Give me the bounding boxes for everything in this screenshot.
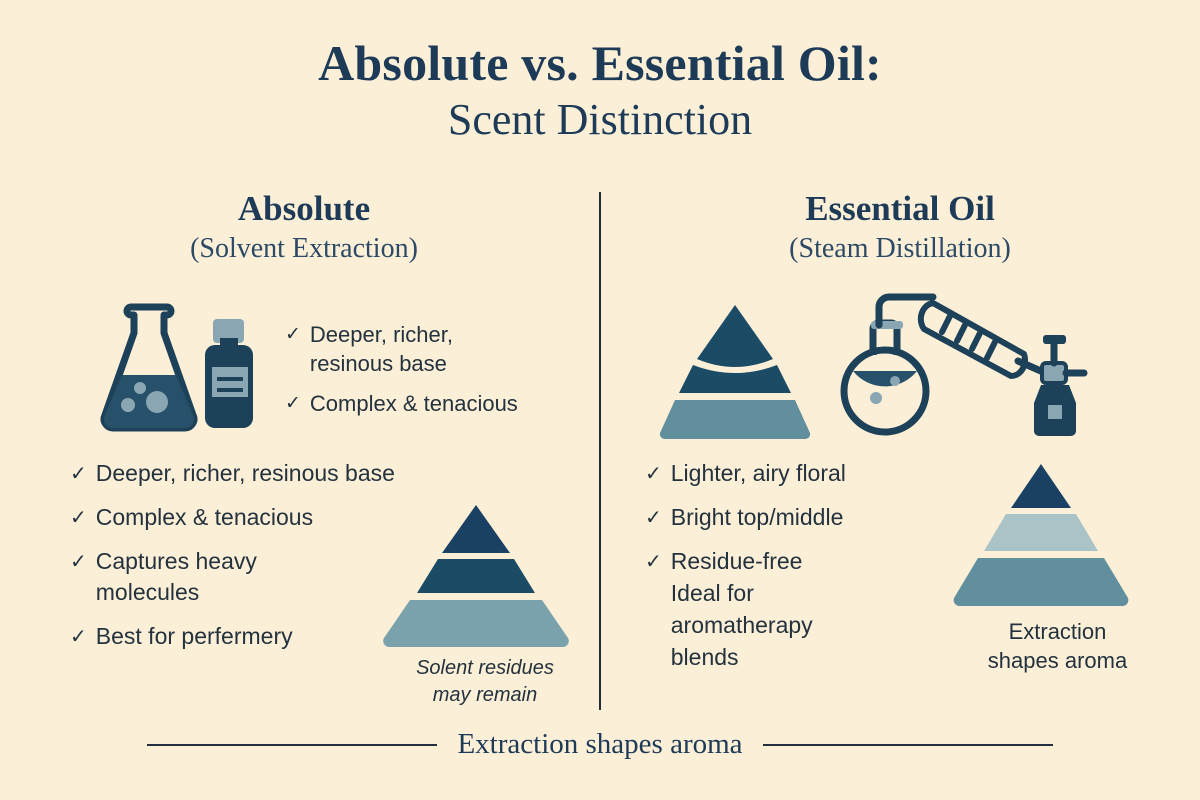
essential-main-bullet-list: ✓ Lighter, airy floral ✓ Bright top/midd…: [645, 457, 945, 685]
check-icon: ✓: [70, 546, 87, 577]
footer-rule-right: [763, 744, 1053, 746]
check-icon: ✓: [645, 501, 662, 533]
absolute-subheading: (Solvent Extraction): [44, 231, 564, 267]
list-item: ✓ Lighter, airy floral: [645, 457, 945, 489]
check-icon: ✓: [70, 502, 87, 533]
distillation-apparatus-icon: [838, 285, 1098, 450]
check-icon: ✓: [70, 621, 87, 652]
list-item: ✓ Residue-free Ideal for aromatherapy bl…: [645, 545, 945, 673]
scent-pyramid-top-icon: [640, 297, 830, 452]
bullet-text: Deeper, richer, resinous base: [96, 458, 540, 489]
list-item: ✓ Deeper, richer, resinous base: [70, 458, 540, 489]
footer-text: Extraction shapes aroma: [457, 728, 742, 761]
footer-rule-left: [147, 744, 437, 746]
title-line-2: Scent Distinction: [0, 94, 1200, 146]
bullet-text: Deeper, richer, resinous base: [310, 320, 585, 378]
list-item: ✓ Deeper, richer, resinous base: [285, 320, 585, 378]
check-icon: ✓: [70, 458, 87, 489]
absolute-caption: Solent residues may remain: [375, 655, 595, 709]
essential-caption: Extraction shapes aroma: [950, 617, 1165, 675]
bullet-text: Residue-free Ideal for aromatherapy blen…: [671, 545, 945, 673]
column-heading-absolute: Absolute (Solvent Extraction): [44, 188, 564, 267]
bullet-text: Lighter, airy floral: [671, 457, 945, 489]
absolute-top-bullet-list: ✓ Deeper, richer, resinous base ✓ Comple…: [285, 320, 585, 429]
footer-banner: Extraction shapes aroma: [0, 728, 1200, 761]
essential-heading: Essential Oil: [640, 188, 1160, 230]
check-icon: ✓: [645, 545, 662, 577]
absolute-heading: Absolute: [44, 188, 564, 230]
bullet-text: Bright top/middle: [671, 501, 945, 533]
essential-subheading: (Steam Distillation): [640, 231, 1160, 267]
bullet-text: Complex & tenacious: [310, 389, 585, 418]
lab-glassware-icon: [100, 293, 280, 448]
infographic-poster: Absolute vs. Essential Oil: Scent Distin…: [0, 0, 1200, 800]
scent-pyramid-absolute-icon: [372, 496, 602, 661]
poster-title: Absolute vs. Essential Oil: Scent Distin…: [0, 34, 1200, 146]
title-line-1: Absolute vs. Essential Oil:: [0, 34, 1200, 92]
list-item: ✓ Bright top/middle: [645, 501, 945, 533]
check-icon: ✓: [645, 457, 662, 489]
check-icon: ✓: [285, 320, 301, 349]
check-icon: ✓: [285, 389, 301, 418]
column-heading-essential: Essential Oil (Steam Distillation): [640, 188, 1160, 267]
scent-pyramid-essential-icon: [938, 455, 1158, 620]
list-item: ✓ Complex & tenacious: [285, 389, 585, 418]
